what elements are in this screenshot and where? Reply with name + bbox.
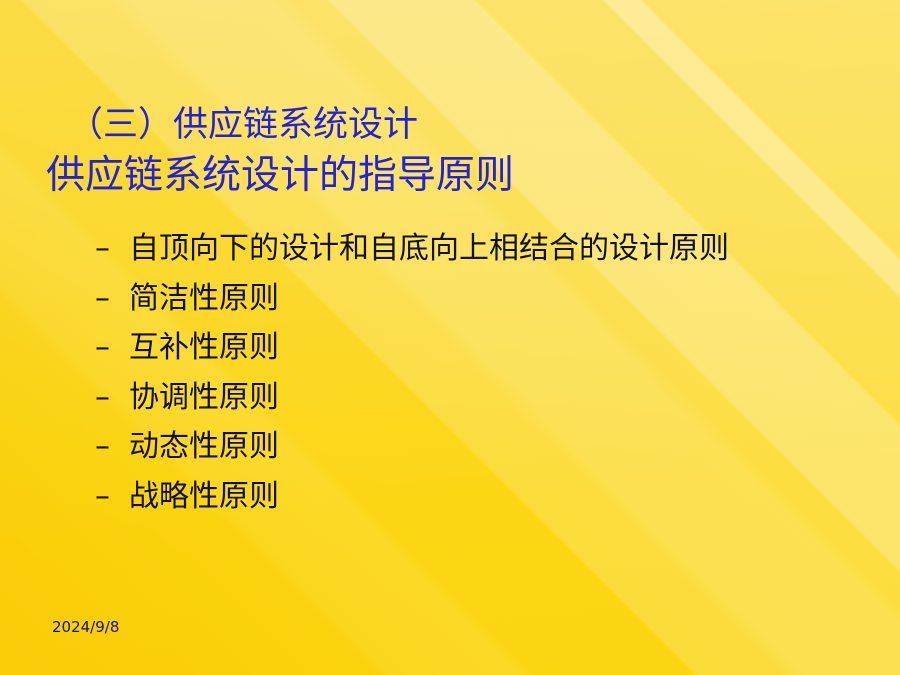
bullet-dash-icon: – [95,224,129,274]
bullet-item: –动态性原则 [0,422,900,472]
bullet-item: –战略性原则 [0,472,900,522]
slide-content: （三）供应链系统设计 供应链系统设计的指导原则 –自顶向下的设计和自底向上相结合… [0,0,900,675]
bullet-item-label: 互补性原则 [129,330,279,365]
bullet-dash-icon: – [95,373,129,423]
bullet-item-label: 自顶向下的设计和自底向上相结合的设计原则 [129,231,729,266]
bullet-item: –简洁性原则 [0,274,900,324]
bullet-item-label: 战略性原则 [129,479,279,514]
bullet-dash-icon: – [95,472,129,522]
bullet-item: –协调性原则 [0,373,900,423]
bullet-item-label: 动态性原则 [129,429,279,464]
bullet-item: –自顶向下的设计和自底向上相结合的设计原则 [0,224,900,274]
slide-title-line-1: （三）供应链系统设计 [0,100,900,150]
slide-title-block: （三）供应链系统设计 供应链系统设计的指导原则 [0,100,900,202]
bullet-dash-icon: – [95,422,129,472]
presentation-slide: （三）供应链系统设计 供应链系统设计的指导原则 –自顶向下的设计和自底向上相结合… [0,0,900,675]
bullet-item: –互补性原则 [0,323,900,373]
slide-title-line-2: 供应链系统设计的指导原则 [0,150,900,202]
bullet-dash-icon: – [95,274,129,324]
bullet-item-label: 协调性原则 [129,380,279,415]
slide-bullet-list: –自顶向下的设计和自底向上相结合的设计原则 –简洁性原则 –互补性原则 –协调性… [0,224,900,521]
bullet-dash-icon: – [95,323,129,373]
bullet-item-label: 简洁性原则 [129,281,279,316]
slide-footer-date: 2024/9/8 [52,617,119,637]
